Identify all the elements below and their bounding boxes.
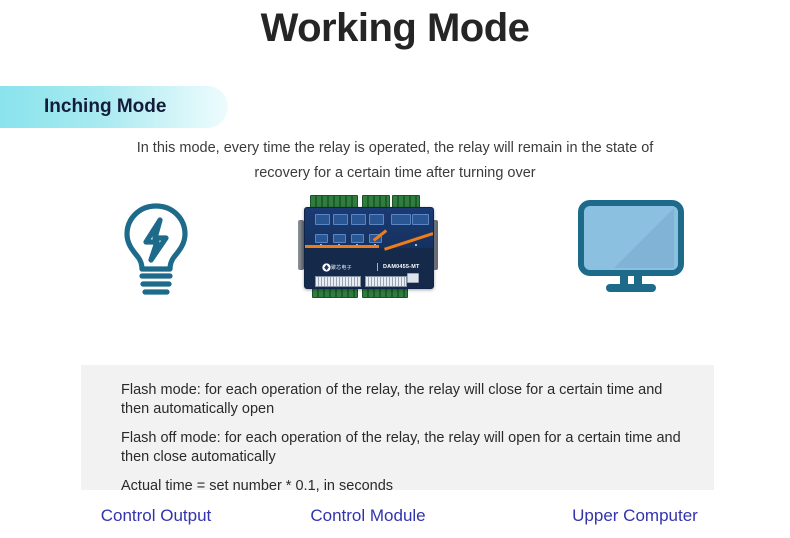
inching-mode-badge-label: Inching Mode [44, 86, 166, 128]
ethernet-port [407, 273, 419, 283]
relay-module-icon: 聚芯电子 DAM0455-MT [298, 194, 438, 299]
mode-description: In this mode, every time the relay is op… [110, 136, 680, 186]
note-flash-off-mode: Flash off mode: for each operation of th… [121, 429, 691, 467]
notes-panel: Flash mode: for each operation of the re… [81, 365, 714, 490]
working-mode-page: Working Mode Inching Mode In this mode, … [0, 0, 790, 538]
module-brand: 聚芯电子 [331, 264, 352, 271]
monitor-icon [578, 200, 684, 297]
caption-control-module: Control Module [278, 506, 458, 526]
module-body: 聚芯电子 DAM0455-MT [304, 207, 434, 289]
caption-upper-computer: Upper Computer [545, 506, 725, 526]
system-diagram: 聚芯电子 DAM0455-MT Inching Command Support … [0, 190, 790, 340]
page-title: Working Mode [0, 6, 790, 51]
lightbulb-icon [118, 200, 194, 300]
caption-control-output: Control Output [66, 506, 246, 526]
inching-mode-badge: Inching Mode [0, 86, 228, 128]
note-actual-time: Actual time = set number * 0.1, in secon… [121, 477, 691, 496]
brand-logo-icon [322, 263, 331, 272]
note-flash-mode: Flash mode: for each operation of the re… [121, 381, 691, 419]
module-model: DAM0455-MT [383, 264, 420, 270]
